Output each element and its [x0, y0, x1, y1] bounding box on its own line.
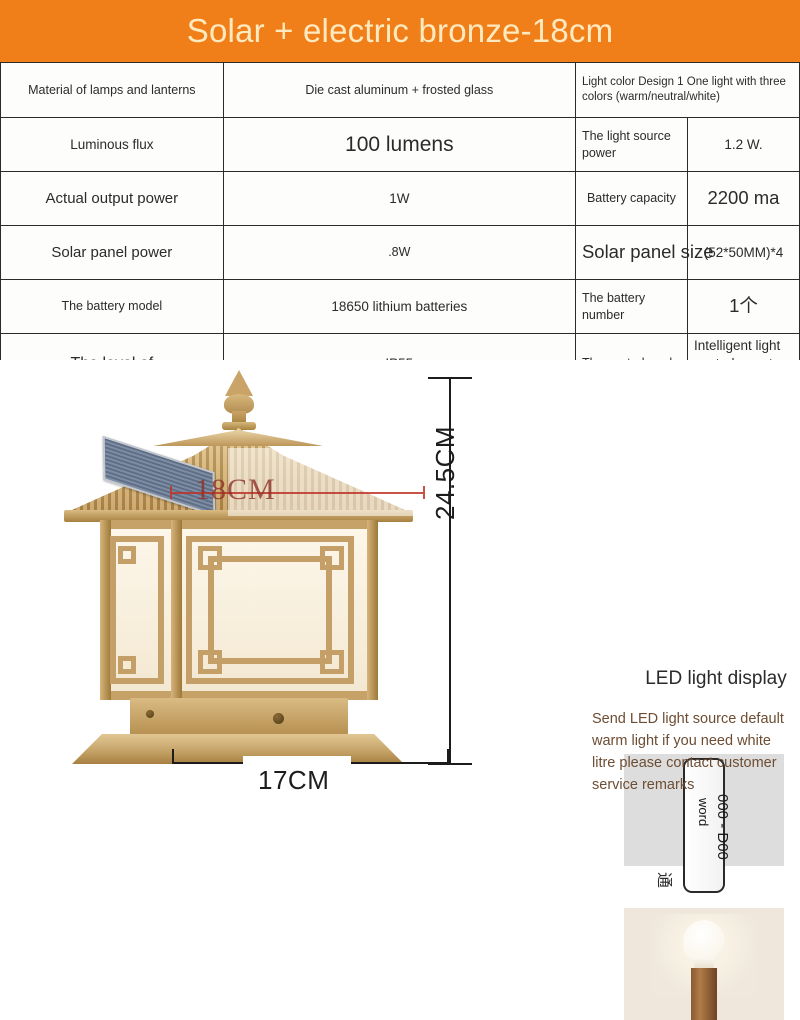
lattice-side-tl [118, 546, 136, 564]
height-dimension-label: 24.5CM [430, 426, 461, 520]
spec-value-battery-capacity: 2200 ma [687, 172, 799, 226]
spec-value-source-power: 1.2 W. [687, 118, 799, 172]
table-row: Material of lamps and lanterns Die cast … [1, 63, 800, 118]
base-screw-knob [273, 713, 284, 724]
led-bulb-socket [691, 968, 717, 1020]
led-display-caption: LED light display [636, 668, 796, 690]
spec-label-solar-power: Solar panel power [1, 226, 224, 280]
spec-label-source-power: The light source power [575, 118, 687, 172]
finial-tip-icon [225, 370, 253, 396]
lattice-corner-tl [198, 546, 222, 570]
specification-table: Material of lamps and lanterns Die cast … [0, 62, 800, 394]
spec-label-material: Material of lamps and lanterns [1, 63, 224, 118]
table-row: Luminous flux 100 lumens The light sourc… [1, 118, 800, 172]
spec-label-light-color: Light color Design 1 One light with thre… [575, 63, 799, 118]
spec-value-material: Die cast aluminum + frosted glass [223, 63, 575, 118]
lattice-corner-br [320, 650, 344, 674]
spec-value-solar-panel-size: (52*50MM)*4 [687, 226, 799, 280]
lattice-front-inner [208, 556, 332, 664]
product-title: Solar + electric bronze-18cm [187, 12, 614, 50]
lattice-side-bl [118, 656, 136, 674]
spec-label-output-power: Actual output power [1, 172, 224, 226]
table-row: Actual output power 1W Battery capacity … [1, 172, 800, 226]
table-row: Solar panel power .8W Solar panel size (… [1, 226, 800, 280]
spec-label-battery-capacity: Battery capacity [575, 172, 687, 226]
remote-cn-text: 通 [654, 872, 678, 888]
remote-code-text: 000 - D00 [714, 794, 731, 860]
lamp-base-plate [72, 734, 404, 764]
spec-label-battery-model: The battery model [1, 280, 224, 334]
table-row: The battery model 18650 lithium batterie… [1, 280, 800, 334]
body-pillar-right [367, 520, 378, 700]
led-note-text: Send LED light source default warm light… [592, 708, 792, 796]
spec-value-luminous-flux: 100 lumens [223, 118, 575, 172]
base-screw-knob-2 [146, 710, 154, 718]
body-pillar-mid [171, 520, 182, 700]
lamp-base-upper [130, 698, 348, 738]
spec-value-output-power: 1W [223, 172, 575, 226]
remote-word-text: word [696, 798, 711, 826]
led-light-image [624, 908, 784, 1020]
spec-label-luminous-flux: Luminous flux [1, 118, 224, 172]
spec-value-battery-model: 18650 lithium batteries [223, 280, 575, 334]
spec-label-battery-number: The battery number [575, 280, 687, 334]
spec-value-battery-number: 1个 [687, 280, 799, 334]
width-dimension-label: 17CM [258, 765, 329, 796]
lattice-corner-tr [320, 546, 344, 570]
product-title-banner: Solar + electric bronze-18cm [0, 0, 800, 62]
lattice-corner-bl [198, 650, 222, 674]
roof-ridge [153, 430, 323, 446]
spec-value-solar-power: .8W [223, 226, 575, 280]
spec-label-solar-panel-size: Solar panel size [575, 226, 687, 280]
lamp-product-image [58, 370, 418, 770]
roof-width-label: 18CM [195, 473, 276, 507]
